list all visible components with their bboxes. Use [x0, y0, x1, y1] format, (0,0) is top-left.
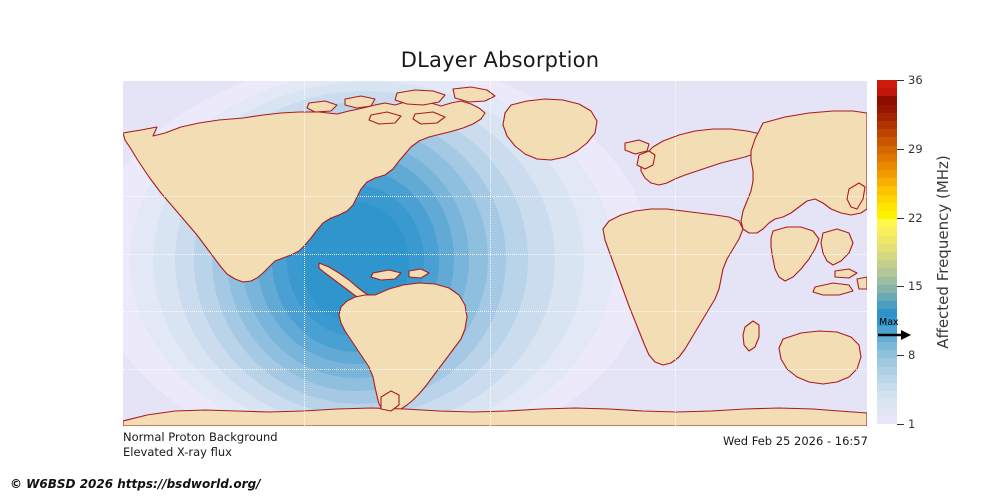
colorbar-band [877, 211, 897, 219]
colorbar-tick [897, 149, 904, 150]
colorbar-tick-label: 15 [908, 279, 923, 293]
colorbar-band [877, 170, 897, 178]
colorbar-tick [897, 286, 904, 287]
colorbar-band [877, 268, 897, 276]
colorbar-band [877, 260, 897, 268]
colorbar-band [877, 383, 897, 391]
colorbar-band [877, 219, 897, 227]
colorbar-band [877, 154, 897, 162]
colorbar-band [877, 391, 897, 399]
colorbar-band [877, 358, 897, 366]
colorbar-band [877, 227, 897, 235]
colorbar-band [877, 113, 897, 121]
colorbar-band [877, 252, 897, 260]
timestamp-label: Wed Feb 25 2026 - 16:57 [723, 434, 868, 448]
gridline-horizontal [123, 311, 867, 312]
colorbar-band [877, 350, 897, 358]
copyright-footer: © W6BSD 2026 https://bsdworld.org/ [10, 477, 261, 491]
colorbar-band [877, 244, 897, 252]
colorbar-band [877, 342, 897, 350]
colorbar-band [877, 195, 897, 203]
colorbar-band [877, 367, 897, 375]
colorbar-band [877, 178, 897, 186]
gridline-horizontal [123, 369, 867, 370]
colorbar-band [877, 277, 897, 285]
colorbar-band [877, 88, 897, 96]
colorbar-band [877, 162, 897, 170]
colorbar-tick-label: 1 [908, 417, 915, 431]
colorbar-band [877, 105, 897, 113]
colorbar-band [877, 137, 897, 145]
max-arrow-icon [877, 329, 911, 341]
colorbar-band [877, 129, 897, 137]
colorbar-tick [897, 355, 904, 356]
colorbar-tick-label: 22 [908, 211, 923, 225]
colorbar-band [877, 186, 897, 194]
map-gridlines [123, 81, 867, 426]
colorbar-tick-label: 36 [908, 73, 923, 87]
gridline-horizontal [123, 196, 867, 197]
colorbar-band [877, 293, 897, 301]
gridline-horizontal [123, 254, 867, 255]
colorbar-tick-label: 8 [908, 348, 915, 362]
colorbar-axis-label: Affected Frequency (MHz) [931, 80, 955, 424]
colorbar-band [877, 96, 897, 104]
colorbar-axis-label-text: Affected Frequency (MHz) [934, 155, 952, 349]
proton-status-note: Normal Proton Background [123, 430, 278, 444]
colorbar-band [877, 416, 897, 424]
colorbar-tick [897, 424, 904, 425]
colorbar-tick [897, 218, 904, 219]
map-plot-area[interactable] [123, 81, 867, 426]
colorbar-band [877, 408, 897, 416]
colorbar-band [877, 121, 897, 129]
colorbar-band [877, 203, 897, 211]
colorbar-band [877, 301, 897, 309]
colorbar-band [877, 285, 897, 293]
colorbar[interactable]: 1815222936 Max [877, 80, 897, 424]
colorbar-band [877, 399, 897, 407]
colorbar-band [877, 146, 897, 154]
colorbar-tick-label: 29 [908, 142, 923, 156]
colorbar-max-marker: Max [877, 318, 923, 341]
colorbar-tick [897, 80, 904, 81]
colorbar-band [877, 375, 897, 383]
colorbar-gradient [877, 80, 897, 424]
colorbar-band [877, 236, 897, 244]
max-marker-label: Max [877, 318, 923, 328]
colorbar-band [877, 309, 897, 317]
colorbar-band [877, 80, 897, 88]
page-title: DLayer Absorption [0, 48, 1000, 72]
xray-status-note: Elevated X-ray flux [123, 445, 232, 459]
